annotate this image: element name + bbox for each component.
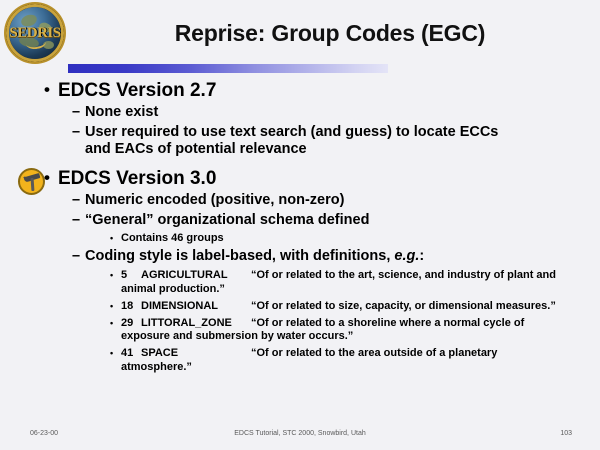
coding-style-text: Coding style is label-based, with defini…: [85, 248, 394, 264]
bullet-text: EDCS Version 3.0: [58, 168, 216, 189]
definition-row: •29LITTORAL_ZONE“Of or related to a shor…: [110, 317, 600, 343]
sub-bullet-coding-style: – Coding style is label-based, with defi…: [72, 248, 600, 265]
bullet-marker: •: [44, 80, 58, 99]
definition-label: AGRICULTURAL: [141, 269, 251, 282]
bullet-marker: •: [110, 232, 121, 244]
definition-row: •18DIMENSIONAL“Of or related to size, ca…: [110, 300, 600, 313]
eg-italic: e.g.: [394, 248, 419, 264]
dash-marker: –: [72, 104, 85, 121]
bullet-edcs-27: • EDCS Version 2.7: [44, 80, 600, 101]
definition-text: 29LITTORAL_ZONE“Of or related to a shore…: [121, 317, 556, 343]
definition-text: 41SPACE“Of or related to the area outsid…: [121, 347, 556, 373]
coding-style-colon: :: [419, 248, 424, 264]
definition-row: •5AGRICULTURAL“Of or related to the art,…: [110, 269, 600, 295]
sub-bullet-none-exist: – None exist: [72, 104, 600, 121]
bullet-marker: •: [110, 300, 121, 312]
definition-label: SPACE: [141, 347, 251, 360]
sub-sub-bullet-text: Contains 46 groups: [121, 232, 224, 245]
sub-bullet-text: “General” organizational schema defined: [85, 212, 369, 229]
slide-body: • EDCS Version 2.7 – None exist – User r…: [0, 78, 600, 374]
bullet-text: EDCS Version 2.7: [58, 80, 216, 101]
title-gradient-rule: [68, 64, 388, 73]
definition-text: 5AGRICULTURAL“Of or related to the art, …: [121, 269, 556, 295]
slide-footer: 06-23-00 EDCS Tutorial, STC 2000, Snowbi…: [0, 430, 600, 444]
footer-center-text: EDCS Tutorial, STC 2000, Snowbird, Utah: [0, 430, 600, 437]
definition-text: 18DIMENSIONAL“Of or related to size, cap…: [121, 300, 556, 313]
sub-bullet-text-search: – User required to use text search (and …: [72, 124, 600, 158]
bullet-marker: •: [110, 317, 121, 329]
definition-quote: “Of or related to size, capacity, or dim…: [251, 300, 556, 312]
dash-marker: –: [72, 192, 85, 209]
definition-row: •41SPACE“Of or related to the area outsi…: [110, 347, 600, 373]
sub-bullet-text: Numeric encoded (positive, non-zero): [85, 192, 344, 209]
sedris-logo-icon: SEDRIS: [6, 4, 64, 62]
dash-marker: –: [72, 124, 85, 141]
definition-code: 29: [121, 317, 141, 330]
footer-page-number: 103: [560, 430, 572, 437]
sub-bullet-general-schema: – “General” organizational schema define…: [72, 212, 600, 229]
definition-label: LITTORAL_ZONE: [141, 317, 251, 330]
sub-bullet-text: Coding style is label-based, with defini…: [85, 248, 424, 265]
presentation-slide: SEDRIS Reprise: Group Codes (EGC) • EDCS…: [0, 0, 600, 450]
bullet-marker: •: [110, 347, 121, 359]
bullet-marker: •: [44, 168, 58, 187]
bullet-marker: •: [110, 269, 121, 281]
dash-marker: –: [72, 248, 85, 265]
sub-bullet-numeric-encoded: – Numeric encoded (positive, non-zero): [72, 192, 600, 209]
logo-ring: [6, 4, 64, 62]
bullet-edcs-30: • EDCS Version 3.0: [44, 168, 600, 189]
definition-code: 18: [121, 300, 141, 313]
definition-list: •5AGRICULTURAL“Of or related to the art,…: [0, 269, 600, 373]
definition-label: DIMENSIONAL: [141, 300, 251, 313]
sub-sub-bullet-contains-groups: • Contains 46 groups: [110, 232, 600, 245]
definition-code: 41: [121, 347, 141, 360]
sub-bullet-text: User required to use text search (and gu…: [85, 124, 515, 158]
definition-code: 5: [121, 269, 141, 282]
slide-title: Reprise: Group Codes (EGC): [80, 20, 580, 47]
dash-marker: –: [72, 212, 85, 229]
sub-bullet-text: None exist: [85, 104, 158, 121]
